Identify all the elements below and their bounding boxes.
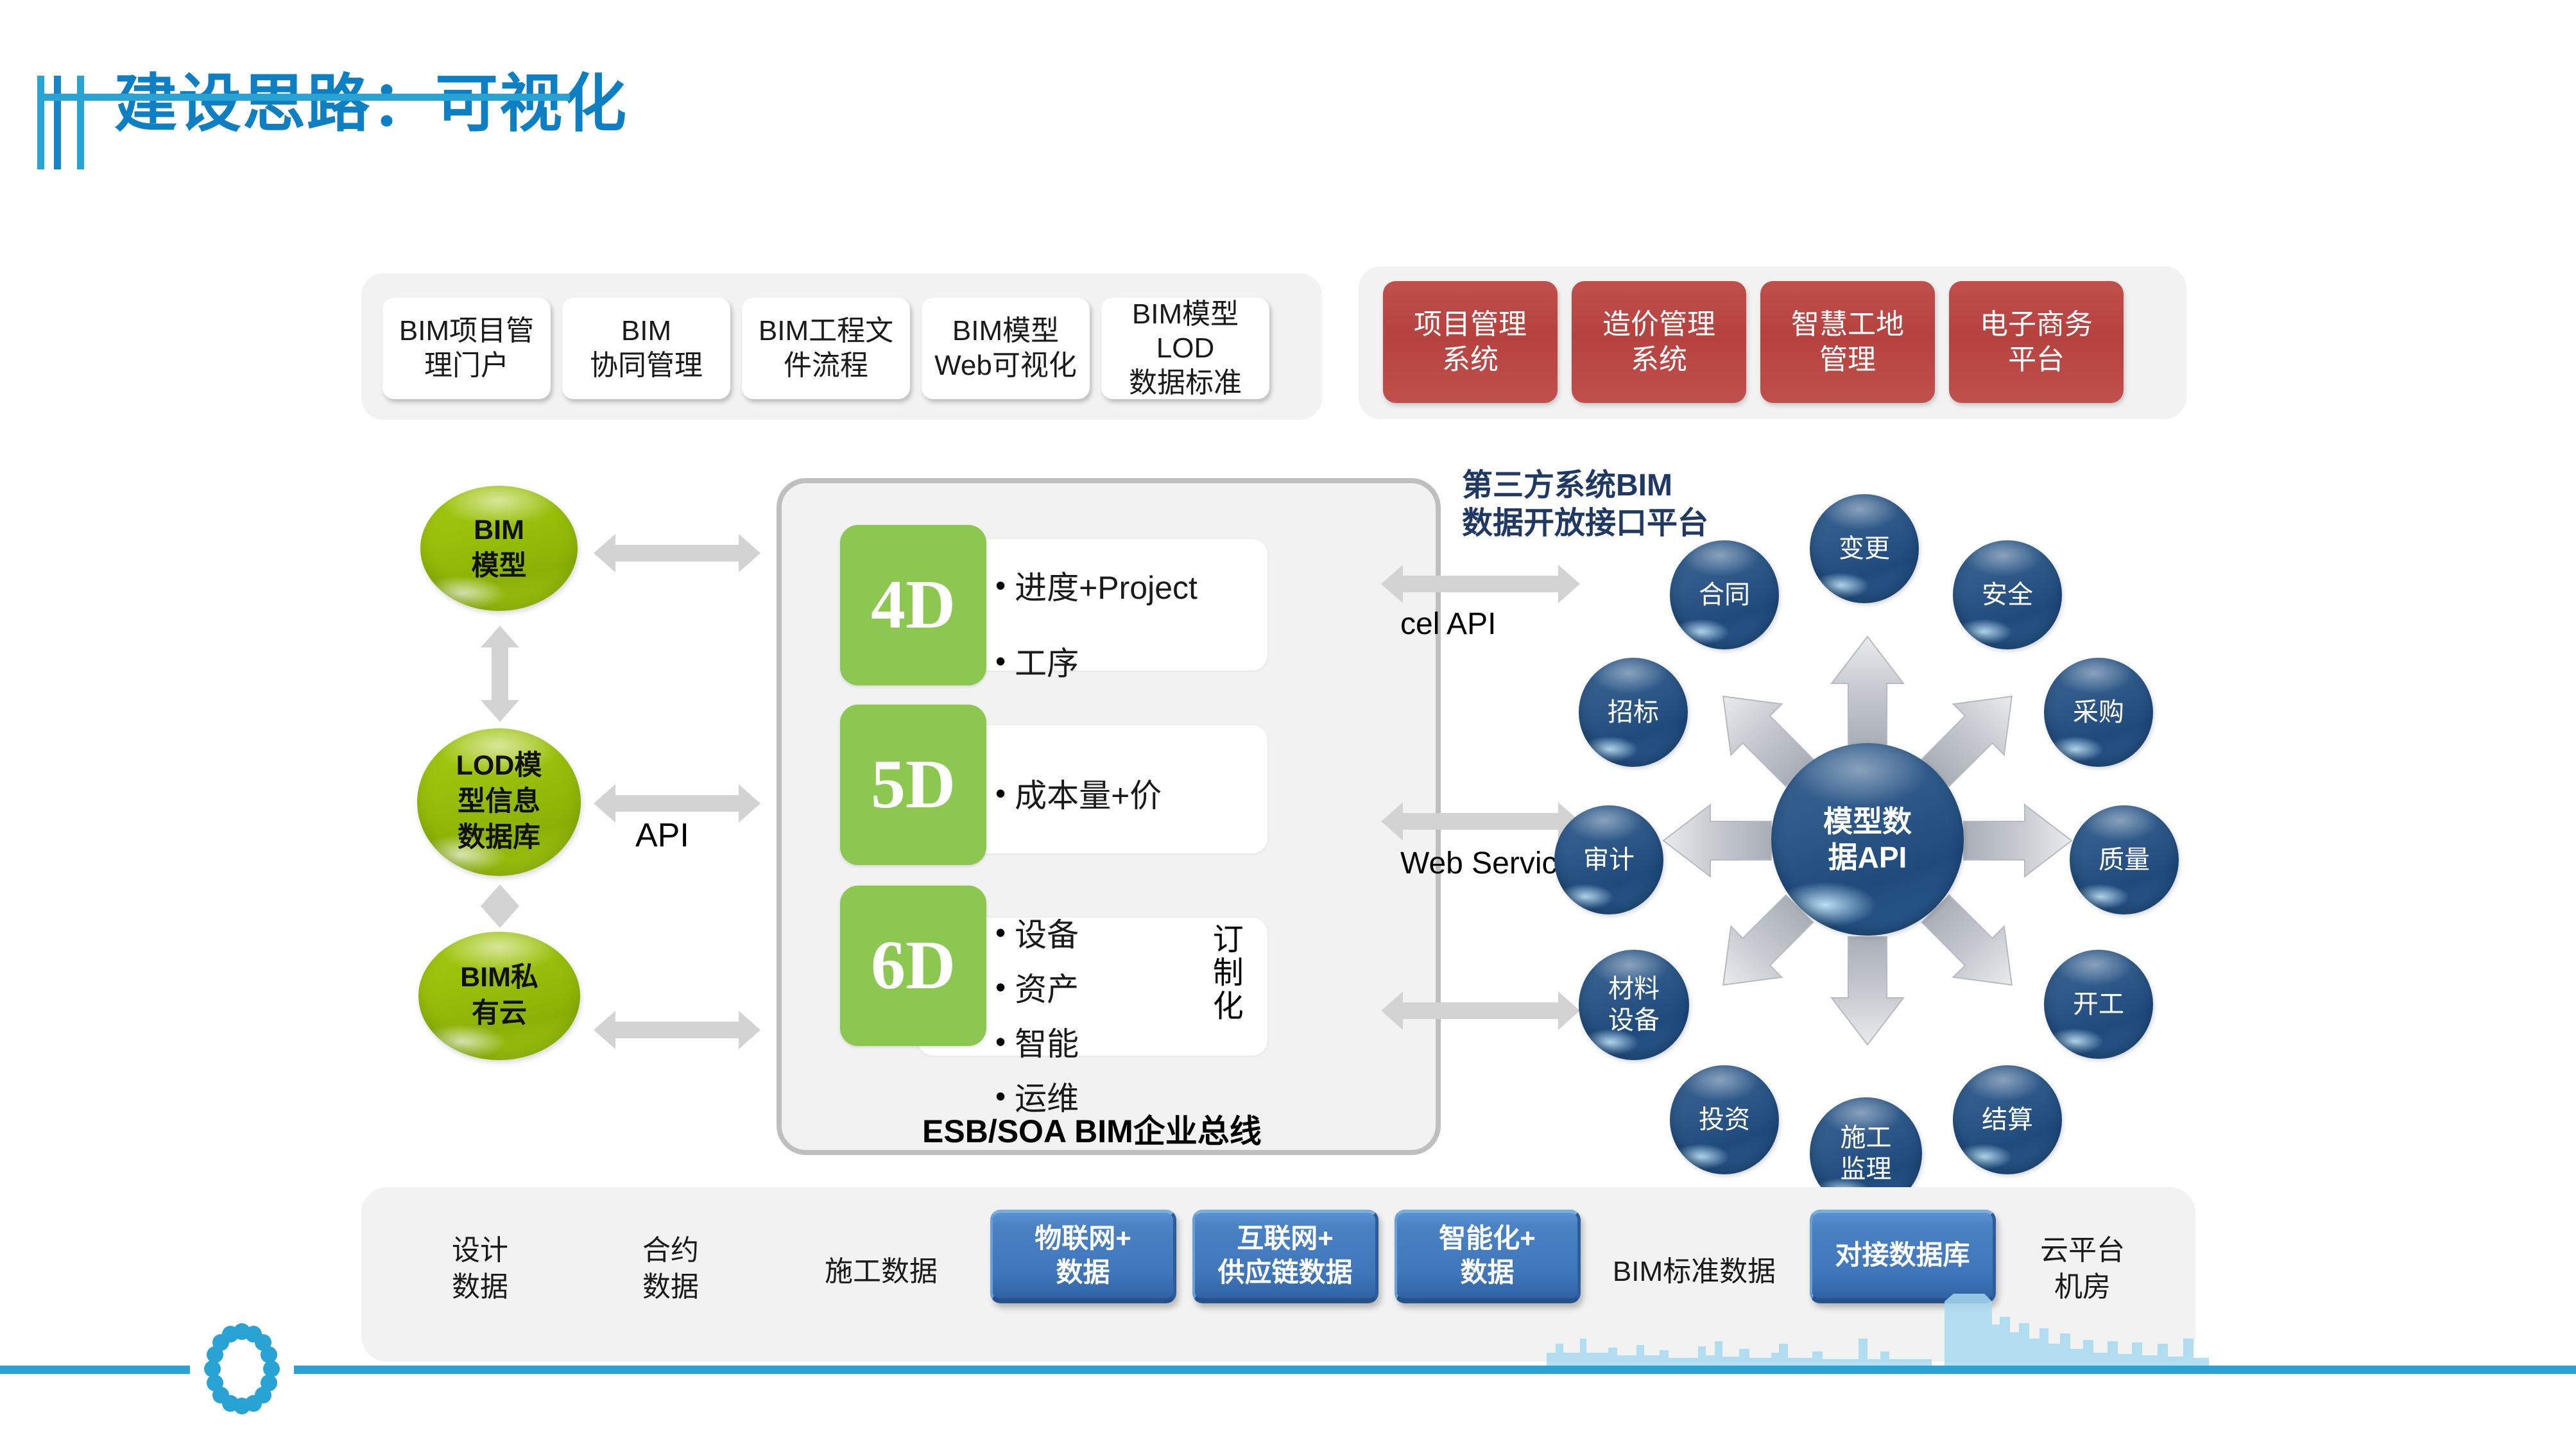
badge-5d[interactable]: 5D: [840, 705, 986, 865]
bottom-label-design-data: 设计 数据: [416, 1232, 544, 1305]
arrow-bim-to-esb-icon: [594, 534, 760, 572]
top-bar-right: 项目管理 系统 造价管理 系统 智慧工地 管理 电子商务 平台: [1359, 266, 2186, 419]
wheel-node-material-equipment[interactable]: 材料 设备: [1579, 950, 1689, 1060]
top-card-bim-lod-std[interactable]: BIM模型 LOD 数据标准: [1101, 298, 1269, 399]
wheel-node-settlement[interactable]: 结算: [1953, 1065, 2062, 1174]
bottom-button-internet-supply-chain-data[interactable]: 互联网+ 供应链数据: [1192, 1210, 1378, 1303]
node-bim-model[interactable]: BIM 模型: [420, 486, 578, 611]
label-excel-api: cel API: [1400, 606, 1496, 643]
badge-4d[interactable]: 4D: [840, 525, 986, 685]
top-card-smart-site[interactable]: 智慧工地 管理: [1760, 281, 1935, 403]
title-bracket-icon: [37, 76, 96, 173]
node-bim-private-cloud[interactable]: BIM私 有云: [418, 932, 580, 1060]
badge-6d[interactable]: 6D: [840, 886, 986, 1046]
title-text: 建设思路：可视化: [114, 72, 628, 136]
top-bar-left: BIM项目管 理门户 BIM 协同管理 BIM工程文 件流程 BIM模型 Web…: [361, 273, 1322, 420]
top-card-bim-web-viz[interactable]: BIM模型 Web可视化: [922, 298, 1090, 399]
node-lod-database[interactable]: LOD模 型信息 数据库: [417, 728, 581, 876]
top-card-cost-mgmt[interactable]: 造价管理 系统: [1572, 281, 1746, 403]
bullet-item: 进度+Project: [995, 562, 1198, 608]
esb-caption: ESB/SOA BIM企业总线: [922, 1106, 1262, 1152]
bullet-item: 智能: [995, 1018, 1079, 1065]
top-card-project-mgmt[interactable]: 项目管理 系统: [1383, 281, 1558, 403]
bullet-item: 资产: [995, 964, 1079, 1010]
page-title: 建设思路：可视化: [37, 76, 628, 173]
top-card-bim-collab[interactable]: BIM 协同管理: [562, 298, 730, 399]
top-card-ecommerce[interactable]: 电子商务 平台: [1949, 281, 2124, 403]
wheel-node-investment[interactable]: 投资: [1670, 1065, 1779, 1174]
title-underline: [40, 94, 570, 101]
footer-rule-right: [294, 1366, 2576, 1374]
model-data-api-wheel: 模型数 据API 变更 安全 采购 质量 开工 结算 施工 监理 投资 材料 设…: [1527, 501, 2208, 1181]
wheel-node-start-work[interactable]: 开工: [2044, 950, 2153, 1059]
arrow-bim-to-lod-icon: [481, 626, 519, 722]
arrow-lod-to-cloud-icon: [481, 884, 519, 928]
bottom-label-construction-data: 施工数据: [801, 1253, 961, 1290]
wheel-node-audit[interactable]: 审计: [1554, 805, 1663, 914]
bottom-button-iot-data[interactable]: 物联网+ 数据: [990, 1210, 1176, 1303]
bullet-item: 工序: [995, 638, 1198, 684]
dotted-ring-decoration-icon: [204, 1321, 280, 1417]
bullet-item: 设备: [995, 909, 1079, 956]
top-card-bim-portal[interactable]: BIM项目管 理门户: [382, 298, 551, 399]
top-card-bim-docflow[interactable]: BIM工程文 件流程: [742, 298, 910, 399]
wheel-node-procurement[interactable]: 采购: [2044, 658, 2153, 767]
footer-rule-left: [0, 1366, 190, 1374]
slide-canvas: 建设思路：可视化 BIM项目管 理门户 BIM 协同管理 BIM工程文 件流程 …: [0, 0, 2576, 1449]
wheel-center-model-data-api[interactable]: 模型数 据API: [1771, 743, 1964, 936]
label-api-left: API: [635, 816, 689, 855]
bullet-list-6d: 设备 资产 智能 运维: [995, 909, 1079, 1127]
wheel-node-contract[interactable]: 合同: [1670, 540, 1779, 649]
wheel-node-quality[interactable]: 质量: [2070, 805, 2179, 914]
wheel-node-bidding[interactable]: 招标: [1579, 658, 1688, 767]
bottom-label-contract-data: 合约 数据: [606, 1232, 735, 1305]
city-skyline-decoration-icon: [1547, 1277, 2548, 1373]
label-customization: 订制化: [1203, 923, 1245, 1023]
arrow-cloud-to-esb-icon: [594, 1011, 760, 1049]
bullet-list-5d: 成本量+价: [995, 770, 1162, 816]
wheel-node-safety[interactable]: 安全: [1953, 540, 2062, 649]
wheel-node-change[interactable]: 变更: [1810, 494, 1919, 603]
bullet-item: 成本量+价: [995, 770, 1162, 816]
bullet-list-4d: 进度+Project 工序: [995, 562, 1198, 714]
